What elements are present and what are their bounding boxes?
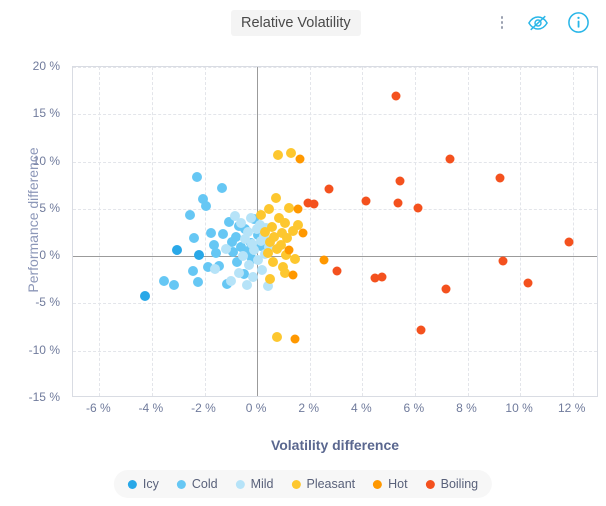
scatter-point-pleasant[interactable] <box>284 203 294 213</box>
scatter-point-boiling[interactable] <box>378 272 387 281</box>
scatter-point-boiling[interactable] <box>417 325 426 334</box>
gridline-vertical <box>520 67 521 396</box>
hide-icon[interactable] <box>527 13 549 33</box>
legend-color-dot <box>373 480 382 489</box>
kebab-dot <box>501 21 504 24</box>
scatter-point-mild[interactable] <box>234 268 244 278</box>
legend-color-dot <box>128 480 137 489</box>
scatter-point-boiling[interactable] <box>499 256 508 265</box>
scatter-point-pleasant[interactable] <box>268 257 278 267</box>
gridline-vertical <box>99 67 100 396</box>
scatter-point-mild[interactable] <box>221 244 231 254</box>
scatter-point-hot[interactable] <box>296 154 305 163</box>
scatter-point-boiling[interactable] <box>325 184 334 193</box>
scatter-point-mild[interactable] <box>226 276 236 286</box>
more-options-icon[interactable] <box>495 14 509 32</box>
y-tick-label: -15 % <box>29 390 60 404</box>
scatter-point-pleasant[interactable] <box>264 204 274 214</box>
x-tick-label: 8 % <box>456 401 477 415</box>
gridline-vertical <box>362 67 363 396</box>
scatter-point-boiling[interactable] <box>496 173 505 182</box>
legend-label: Boiling <box>441 477 479 491</box>
scatter-point-cold[interactable] <box>193 277 203 287</box>
x-tick-label: 0 % <box>246 401 267 415</box>
info-icon[interactable] <box>567 11 590 34</box>
scatter-point-icy[interactable] <box>194 250 204 260</box>
scatter-point-boiling[interactable] <box>393 199 402 208</box>
scatter-point-mild[interactable] <box>210 264 220 274</box>
scatter-point-pleasant[interactable] <box>267 222 277 232</box>
y-axis-title: Performance difference <box>25 70 41 370</box>
legend-item-icy[interactable]: Icy <box>128 477 159 491</box>
scatter-point-pleasant[interactable] <box>290 254 300 264</box>
legend-item-mild[interactable]: Mild <box>236 477 274 491</box>
legend-color-dot <box>291 480 300 489</box>
x-tick-label: 10 % <box>505 401 532 415</box>
x-tick-label: -6 % <box>86 401 111 415</box>
scatter-point-boiling[interactable] <box>442 285 451 294</box>
scatter-point-mild[interactable] <box>246 213 256 223</box>
gridline-vertical <box>468 67 469 396</box>
legend-label: Icy <box>143 477 159 491</box>
scatter-point-hot[interactable] <box>291 335 300 344</box>
gridline-vertical <box>573 67 574 396</box>
scatter-point-cold[interactable] <box>217 183 227 193</box>
scatter-point-boiling[interactable] <box>446 154 455 163</box>
scatter-point-hot[interactable] <box>299 228 308 237</box>
header-icon-group <box>495 11 590 34</box>
x-tick-label: 2 % <box>298 401 319 415</box>
legend-label: Hot <box>388 477 407 491</box>
kebab-dot <box>501 16 504 19</box>
scatter-point-cold[interactable] <box>189 233 199 243</box>
scatter-point-pleasant[interactable] <box>286 148 296 158</box>
legend-item-hot[interactable]: Hot <box>373 477 407 491</box>
x-tick-label: 12 % <box>558 401 585 415</box>
scatter-point-hot[interactable] <box>320 255 329 264</box>
scatter-point-icy[interactable] <box>140 291 150 301</box>
legend-item-pleasant[interactable]: Pleasant <box>291 477 355 491</box>
legend-label: Pleasant <box>306 477 355 491</box>
scatter-point-cold[interactable] <box>185 210 195 220</box>
y-tick-label: 5 % <box>39 201 60 215</box>
scatter-point-cold[interactable] <box>218 229 228 239</box>
x-tick-label: -2 % <box>191 401 216 415</box>
scatter-point-icy[interactable] <box>172 245 182 255</box>
gridline-vertical <box>415 67 416 396</box>
scatter-point-pleasant[interactable] <box>271 193 281 203</box>
legend-color-dot <box>426 480 435 489</box>
scatter-point-cold[interactable] <box>169 280 179 290</box>
scatter-point-pleasant[interactable] <box>265 274 275 284</box>
x-tick-label: -4 % <box>139 401 164 415</box>
scatter-point-boiling[interactable] <box>392 92 401 101</box>
scatter-point-cold[interactable] <box>206 228 216 238</box>
scatter-point-mild[interactable] <box>248 272 258 282</box>
scatter-point-pleasant[interactable] <box>272 332 282 342</box>
gridline-vertical <box>310 67 311 396</box>
scatter-point-cold[interactable] <box>192 172 202 182</box>
kebab-dot <box>501 26 504 29</box>
scatter-point-boiling[interactable] <box>564 237 573 246</box>
page-title: Relative Volatility <box>231 10 361 36</box>
x-tick-label: 4 % <box>351 401 372 415</box>
scatter-point-mild[interactable] <box>257 265 267 275</box>
scatter-point-hot[interactable] <box>288 271 297 280</box>
scatter-point-hot[interactable] <box>293 204 302 213</box>
scatter-point-boiling[interactable] <box>523 278 532 287</box>
scatter-point-cold[interactable] <box>201 201 211 211</box>
scatter-point-hot[interactable] <box>284 245 293 254</box>
legend-label: Cold <box>192 477 218 491</box>
y-tick-label: 0 % <box>39 248 60 262</box>
x-axis-title: Volatility difference <box>72 437 598 453</box>
scatter-point-cold[interactable] <box>159 276 169 286</box>
scatter-plot-area[interactable] <box>72 66 598 397</box>
legend-color-dot <box>177 480 186 489</box>
scatter-point-boiling[interactable] <box>396 177 405 186</box>
legend-color-dot <box>236 480 245 489</box>
x-axis-tick-labels: -6 %-4 %-2 %0 %2 %4 %6 %8 %10 %12 % <box>72 401 598 421</box>
chart-legend: IcyColdMildPleasantHotBoiling <box>114 470 492 498</box>
scatter-point-boiling[interactable] <box>309 200 318 209</box>
legend-label: Mild <box>251 477 274 491</box>
legend-item-boiling[interactable]: Boiling <box>426 477 479 491</box>
gridline-vertical <box>152 67 153 396</box>
scatter-point-boiling[interactable] <box>333 267 342 276</box>
x-tick-label: 6 % <box>404 401 425 415</box>
scatter-point-pleasant[interactable] <box>273 150 283 160</box>
scatter-point-boiling[interactable] <box>413 203 422 212</box>
legend-item-cold[interactable]: Cold <box>177 477 218 491</box>
scatter-point-boiling[interactable] <box>362 197 371 206</box>
scatter-point-cold[interactable] <box>188 266 198 276</box>
chart-header: Relative Volatility <box>0 0 606 46</box>
